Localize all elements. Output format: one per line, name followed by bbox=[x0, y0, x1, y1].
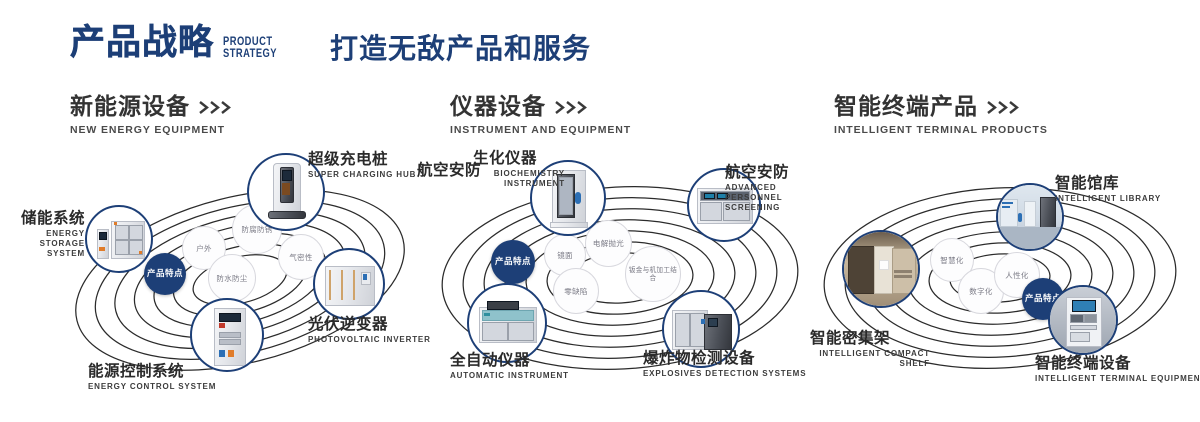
node-intelligent-library[interactable] bbox=[996, 183, 1064, 251]
section-heading-intelligent-terminal: 智能终端产品 INTELLIGENT TERMINAL PRODUCTS bbox=[834, 94, 1048, 136]
label-explosives-detection: 爆炸物检测设备 EXPLOSIVES DETECTION SYSTEMS bbox=[643, 350, 806, 379]
control-cabinet-icon bbox=[192, 300, 262, 370]
label-intelligent-compact-shelf: 智能密集架 INTELLIGENT COMPACT SHELF bbox=[810, 330, 930, 369]
label-energy-storage: 储能系统 ENERGY STORAGE SYSTEM bbox=[0, 210, 85, 259]
label-automatic-instrument: 全自动仪器 AUTOMATIC INSTRUMENT bbox=[450, 352, 569, 381]
node-intelligent-terminal-equipment[interactable] bbox=[1048, 285, 1118, 355]
pv-inverter-cabinet-icon bbox=[315, 250, 383, 318]
compact-shelving-icon bbox=[844, 232, 918, 306]
page-title: 产品战略 PRODUCT STRATEGY bbox=[70, 26, 292, 61]
header-slogan: 打造无敌产品和服务 bbox=[330, 32, 591, 66]
diagram-new-energy: 户外 防腐防锈 防水防尘 气密性 产品特点 bbox=[40, 150, 440, 395]
node-energy-storage[interactable] bbox=[85, 205, 153, 273]
energy-storage-cabinet-icon bbox=[87, 207, 151, 271]
feature-bubble: 零缺陷 bbox=[553, 268, 599, 314]
section-heading-instrument: 仪器设备 INSTRUMENT AND EQUIPMENT bbox=[450, 94, 631, 136]
chevron-triple-right-icon bbox=[199, 101, 233, 114]
label-biochemistry-instrument: 生化仪器 BIOCHEMISTRY INSTRUMENT bbox=[473, 150, 565, 189]
section-heading-new-energy: 新能源设备 NEW ENERGY EQUIPMENT bbox=[70, 94, 233, 136]
section-title-en: NEW ENERGY EQUIPMENT bbox=[70, 124, 233, 136]
label-pv-inverter: 光伏逆变器 PHOTOVOLTAIC INVERTER bbox=[308, 316, 431, 345]
label-aviation-security-left: 航空安防 bbox=[417, 162, 481, 179]
label-intelligent-library: 智能馆库 INTELLIGENT LIBRARY bbox=[1055, 175, 1161, 204]
chevron-triple-right-icon bbox=[555, 101, 589, 114]
section-title-en: INTELLIGENT TERMINAL PRODUCTS bbox=[834, 124, 1048, 136]
label-charging-hub: 超级充电桩 SUPER CHARGING HUB bbox=[308, 151, 416, 180]
section-title-cn: 仪器设备 bbox=[450, 94, 546, 120]
section-title-en: INSTRUMENT AND EQUIPMENT bbox=[450, 124, 631, 136]
brand-title-cn: 产品战略 bbox=[70, 26, 214, 61]
feature-bubble: 防水防尘 bbox=[208, 254, 256, 302]
brand-title-en: PRODUCT STRATEGY bbox=[223, 35, 277, 59]
section-title-cn: 新能源设备 bbox=[70, 94, 190, 120]
node-energy-control[interactable] bbox=[190, 298, 264, 372]
library-interior-icon bbox=[998, 185, 1062, 249]
diagram-intelligent-terminal: 智慧化 数字化 人性化 产品特点 bbox=[800, 150, 1200, 395]
diagram-instrument: 镜面 电解抛光 零缺陷 钣金与机加工结合 产品特点 bbox=[425, 150, 825, 395]
self-service-kiosk-icon bbox=[1050, 287, 1116, 353]
node-intelligent-compact-shelf[interactable] bbox=[842, 230, 920, 308]
node-pv-inverter[interactable] bbox=[313, 248, 385, 320]
section-title-cn: 智能终端产品 bbox=[834, 94, 978, 120]
brand-en-line2: STRATEGY bbox=[223, 47, 277, 59]
automatic-analyzer-icon bbox=[469, 285, 545, 361]
product-strategy-infographic: 产品战略 PRODUCT STRATEGY 打造无敌产品和服务 新能源设备 NE… bbox=[0, 0, 1200, 422]
label-energy-control: 能源控制系统 ENERGY CONTROL SYSTEM bbox=[88, 363, 216, 392]
core-bubble: 产品特点 bbox=[491, 240, 535, 284]
chevron-triple-right-icon bbox=[987, 101, 1021, 114]
label-intelligent-terminal-equipment: 智能终端设备 INTELLIGENT TERMINAL EQUIPMENT bbox=[1035, 355, 1200, 384]
